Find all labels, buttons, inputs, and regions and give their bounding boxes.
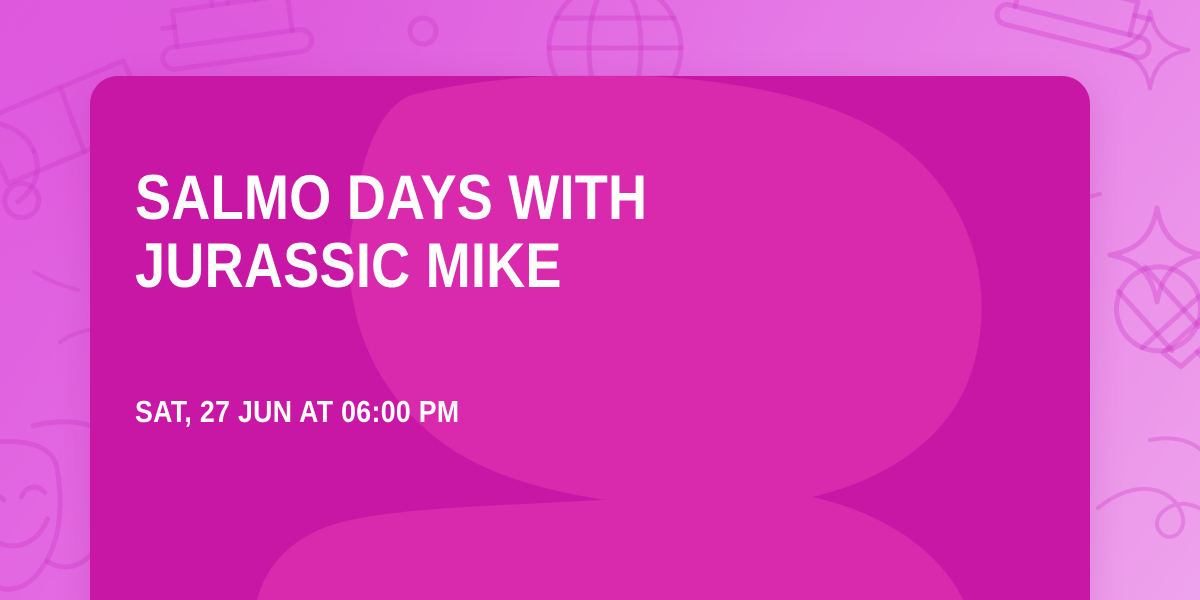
event-banner: Salmo Days with Jurassic Mike Sat, 27 Ju… <box>0 0 1200 600</box>
event-date: Sat, 27 Jun at 06:00 PM <box>135 394 459 430</box>
card-content: Salmo Days with Jurassic Mike Sat, 27 Ju… <box>135 76 1050 600</box>
event-card[interactable]: Salmo Days with Jurassic Mike Sat, 27 Ju… <box>90 76 1090 600</box>
event-title: Salmo Days with Jurassic Mike <box>135 164 806 300</box>
